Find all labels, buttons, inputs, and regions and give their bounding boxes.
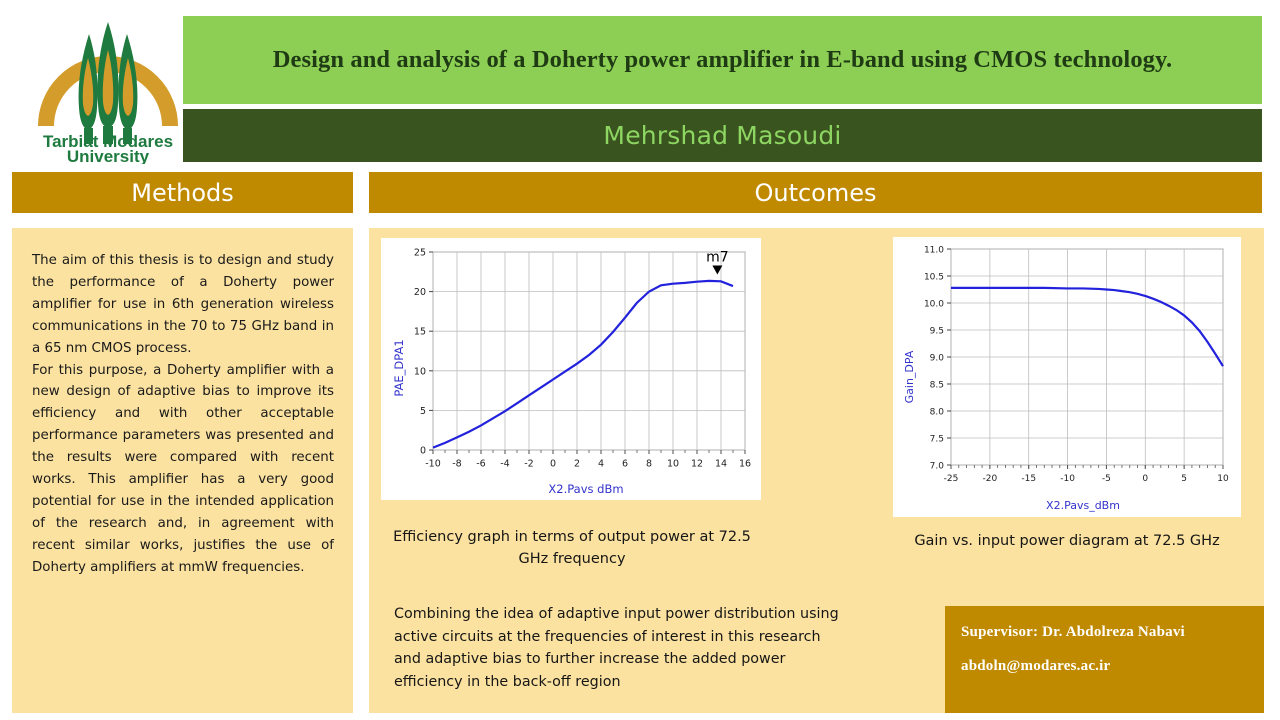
efficiency-chart-container: 0510152025-10-8-6-4-20246810121416 m7 PA… (381, 238, 761, 500)
university-logo: Tarbiat Modares University (28, 4, 188, 164)
svg-text:10: 10 (667, 459, 679, 470)
svg-text:5: 5 (1181, 474, 1187, 484)
efficiency-x-axis-label: X2.Pavs dBm (548, 482, 623, 496)
poster-author: Mehrshad Masoudi (603, 121, 841, 150)
svg-text:7.0: 7.0 (930, 462, 945, 472)
supervisor-info-box: Supervisor: Dr. Abdolreza Nabavi abdoln@… (945, 606, 1264, 713)
outcomes-section-header: Outcomes (369, 172, 1262, 213)
svg-text:-25: -25 (944, 474, 959, 484)
svg-text:-6: -6 (476, 459, 485, 470)
outcomes-header-label: Outcomes (754, 179, 876, 207)
svg-text:25: 25 (414, 248, 426, 259)
methods-header-label: Methods (131, 179, 234, 207)
svg-text:-2: -2 (524, 459, 533, 470)
svg-text:16: 16 (739, 459, 751, 470)
svg-text:9.5: 9.5 (930, 327, 944, 337)
gain-chart: 7.07.58.08.59.09.510.010.511.0-25-20-15-… (893, 237, 1241, 517)
svg-text:-8: -8 (452, 459, 461, 470)
svg-text:12: 12 (691, 459, 703, 470)
svg-text:15: 15 (414, 327, 426, 338)
poster-title: Design and analysis of a Doherty power a… (226, 44, 1219, 76)
svg-text:5: 5 (420, 406, 426, 417)
logo-text-line2: University (67, 147, 150, 164)
logo-graphic: Tarbiat Modares University (28, 4, 188, 164)
efficiency-y-axis-label: PAE_DPA1 (392, 339, 406, 396)
gain-x-axis-label: X2.Pavs_dBm (1046, 499, 1120, 512)
svg-text:8: 8 (646, 459, 652, 470)
outcomes-panel: 0510152025-10-8-6-4-20246810121416 m7 PA… (369, 228, 1264, 713)
efficiency-chart-caption: Efficiency graph in terms of output powe… (387, 526, 757, 570)
svg-text:11.0: 11.0 (924, 246, 944, 256)
gain-chart-grid (951, 249, 1223, 465)
svg-text:-15: -15 (1021, 474, 1036, 484)
svg-text:-10: -10 (1060, 474, 1075, 484)
svg-text:2: 2 (574, 459, 580, 470)
methods-paragraph-1: The aim of this thesis is to design and … (32, 250, 334, 360)
svg-text:-10: -10 (425, 459, 441, 470)
svg-text:8.0: 8.0 (930, 408, 945, 418)
outcomes-summary-text: Combining the idea of adaptive input pow… (394, 603, 846, 693)
svg-text:7.5: 7.5 (930, 435, 944, 445)
gain-chart-caption: Gain vs. input power diagram at 72.5 GHz (881, 530, 1253, 552)
poster-author-bar: Mehrshad Masoudi (183, 109, 1262, 162)
svg-text:10: 10 (1217, 474, 1229, 484)
svg-text:0: 0 (1142, 474, 1148, 484)
svg-text:20: 20 (414, 287, 426, 298)
svg-text:-5: -5 (1102, 474, 1111, 484)
svg-text:9.0: 9.0 (930, 354, 945, 364)
supervisor-name: Supervisor: Dr. Abdolreza Nabavi (961, 624, 1248, 641)
methods-section-header: Methods (12, 172, 353, 213)
methods-panel: The aim of this thesis is to design and … (12, 228, 353, 713)
svg-text:10: 10 (414, 366, 426, 377)
poster-title-bar: Design and analysis of a Doherty power a… (183, 16, 1262, 104)
svg-text:-20: -20 (983, 474, 998, 484)
svg-text:14: 14 (715, 459, 727, 470)
svg-text:4: 4 (598, 459, 604, 470)
methods-paragraph-2: For this purpose, a Doherty amplifier wi… (32, 360, 334, 579)
efficiency-chart: 0510152025-10-8-6-4-20246810121416 m7 PA… (381, 238, 761, 500)
svg-text:8.5: 8.5 (930, 381, 944, 391)
gain-y-axis-label: Gain_DPA (903, 350, 916, 403)
svg-text:6: 6 (622, 459, 628, 470)
supervisor-email[interactable]: abdoln@modares.ac.ir (961, 658, 1248, 675)
svg-text:10.0: 10.0 (924, 300, 944, 310)
gain-chart-container: 7.07.58.08.59.09.510.010.511.0-25-20-15-… (893, 237, 1241, 517)
svg-text:10.5: 10.5 (924, 273, 944, 283)
methods-body-text: The aim of this thesis is to design and … (32, 250, 334, 579)
svg-text:-4: -4 (500, 459, 509, 470)
svg-text:0: 0 (550, 459, 556, 470)
svg-text:0: 0 (420, 446, 426, 457)
svg-text:m7: m7 (706, 250, 729, 266)
